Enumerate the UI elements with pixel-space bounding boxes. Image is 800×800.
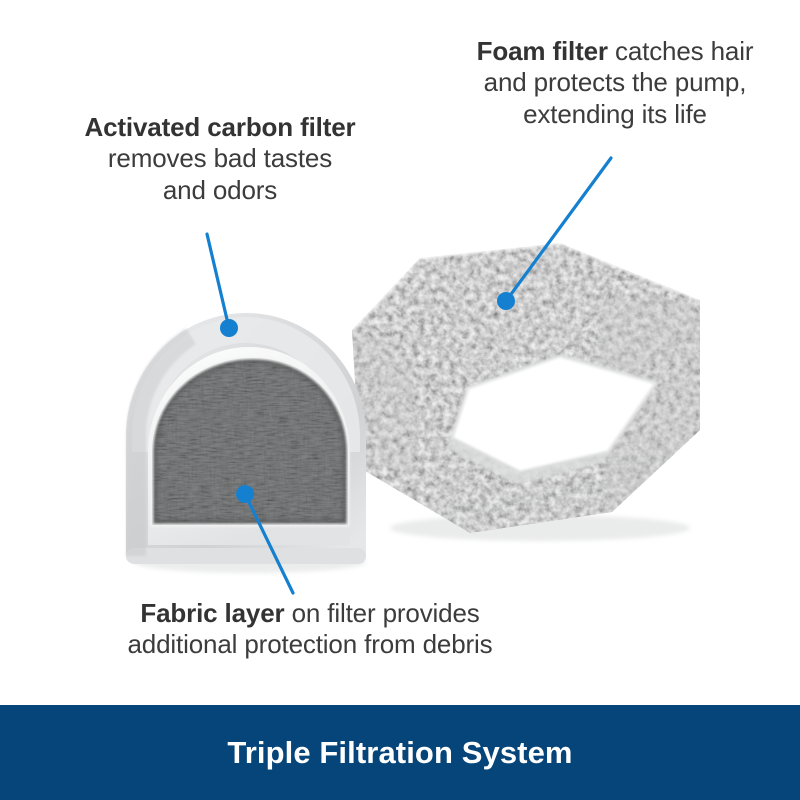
callout-foam-line3: extending its life [430, 99, 800, 130]
callout-foam-bold: Foam filter [477, 36, 608, 66]
callout-carbon-bold: Activated carbon filter [84, 112, 355, 142]
callout-foam-line2: and protects the pump, [430, 67, 800, 98]
callout-foam-filter: Foam filter catches hair and protects th… [430, 36, 800, 130]
callout-foam-line1-rest: catches hair [608, 36, 753, 66]
callout-dot-foam[interactable] [497, 292, 515, 310]
callout-fabric-line1-rest: on filter provides [285, 598, 480, 628]
callout-foam-line1: Foam filter catches hair [430, 36, 800, 67]
callout-dot-carbon[interactable] [220, 319, 238, 337]
carbon-filter-base [126, 548, 366, 564]
foam-filter-block [340, 235, 720, 545]
callout-fabric-line2: additional protection from debris [70, 629, 550, 660]
infographic-canvas: Activated carbon filter removes bad tast… [0, 0, 800, 800]
callout-activated-carbon-filter: Activated carbon filter removes bad tast… [30, 112, 410, 206]
callout-fabric-bold: Fabric layer [140, 598, 284, 628]
callout-fabric-line1: Fabric layer on filter provides [70, 598, 550, 629]
banner-title: Triple Filtration System [227, 735, 572, 771]
callout-fabric-layer: Fabric layer on filter provides addition… [70, 598, 550, 661]
callout-dot-fabric[interactable] [236, 485, 254, 503]
bottom-banner: Triple Filtration System [0, 705, 800, 800]
callout-carbon-line2: removes bad tastes [30, 143, 410, 174]
activated-carbon-filter-cartridge [126, 313, 366, 573]
callout-carbon-line3: and odors [30, 175, 410, 206]
callout-carbon-line1: Activated carbon filter [30, 112, 410, 143]
leader-line-carbon [207, 234, 229, 328]
